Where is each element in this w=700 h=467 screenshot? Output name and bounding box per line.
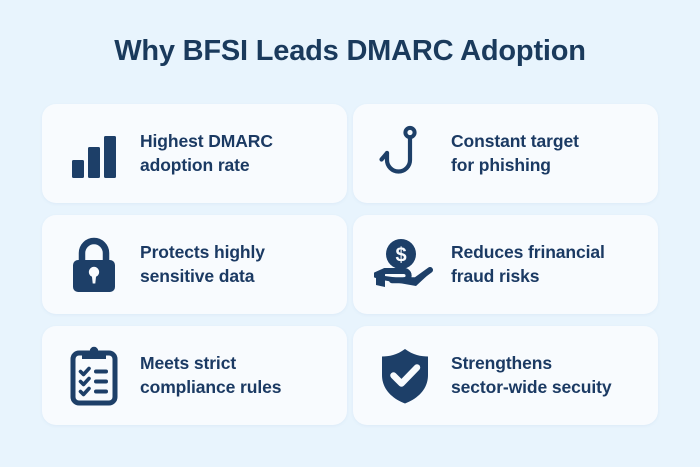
fish-hook-icon	[359, 119, 451, 189]
coin-in-hand-icon: $	[359, 230, 451, 300]
benefit-card-text: Highest DMARC adoption rate	[140, 130, 281, 177]
benefit-card-sector-security: Strengthens sector-wide secuity	[353, 326, 658, 425]
padlock-icon	[48, 230, 140, 300]
benefit-card-text: Reduces frinancial fraud risks	[451, 241, 613, 288]
benefit-line-2: fraud risks	[451, 265, 605, 288]
benefit-line-2: sector-wide secuity	[451, 376, 612, 399]
infographic-page: Why BFSI Leads DMARC Adoption Highest DM…	[0, 0, 700, 467]
benefit-card-sensitive-data: Protects highly sensitive data	[42, 215, 347, 314]
benefit-card-text: Constant target for phishing	[451, 130, 587, 177]
benefit-card-compliance: Meets strict compliance rules	[42, 326, 347, 425]
clipboard-checklist-icon	[48, 341, 140, 411]
benefit-card-text: Meets strict compliance rules	[140, 352, 289, 399]
benefit-line-1: Highest DMARC	[140, 131, 273, 151]
shield-check-icon	[359, 341, 451, 411]
svg-text:$: $	[395, 244, 406, 266]
benefit-card-phishing-target: Constant target for phishing	[353, 104, 658, 203]
benefit-card-fraud-reduction: $ Reduces frinancial fraud risks	[353, 215, 658, 314]
benefit-line-2: sensitive data	[140, 265, 265, 288]
benefit-line-1: Constant target	[451, 131, 579, 151]
benefit-card-text: Protects highly sensitive data	[140, 241, 273, 288]
benefit-line-1: Reduces frinancial	[451, 242, 605, 262]
benefit-line-1: Meets strict	[140, 353, 236, 373]
benefit-card-highest-adoption: Highest DMARC adoption rate	[42, 104, 347, 203]
benefit-line-2: for phishing	[451, 154, 579, 177]
benefit-line-2: adoption rate	[140, 154, 273, 177]
benefit-line-1: Protects highly	[140, 242, 265, 262]
page-title: Why BFSI Leads DMARC Adoption	[0, 36, 700, 68]
benefit-line-2: compliance rules	[140, 376, 281, 399]
benefit-card-text: Strengthens sector-wide secuity	[451, 352, 620, 399]
benefit-line-1: Strengthens	[451, 353, 552, 373]
benefits-grid: Highest DMARC adoption rate Constant tar…	[42, 104, 658, 425]
bar-chart-icon	[48, 119, 140, 189]
